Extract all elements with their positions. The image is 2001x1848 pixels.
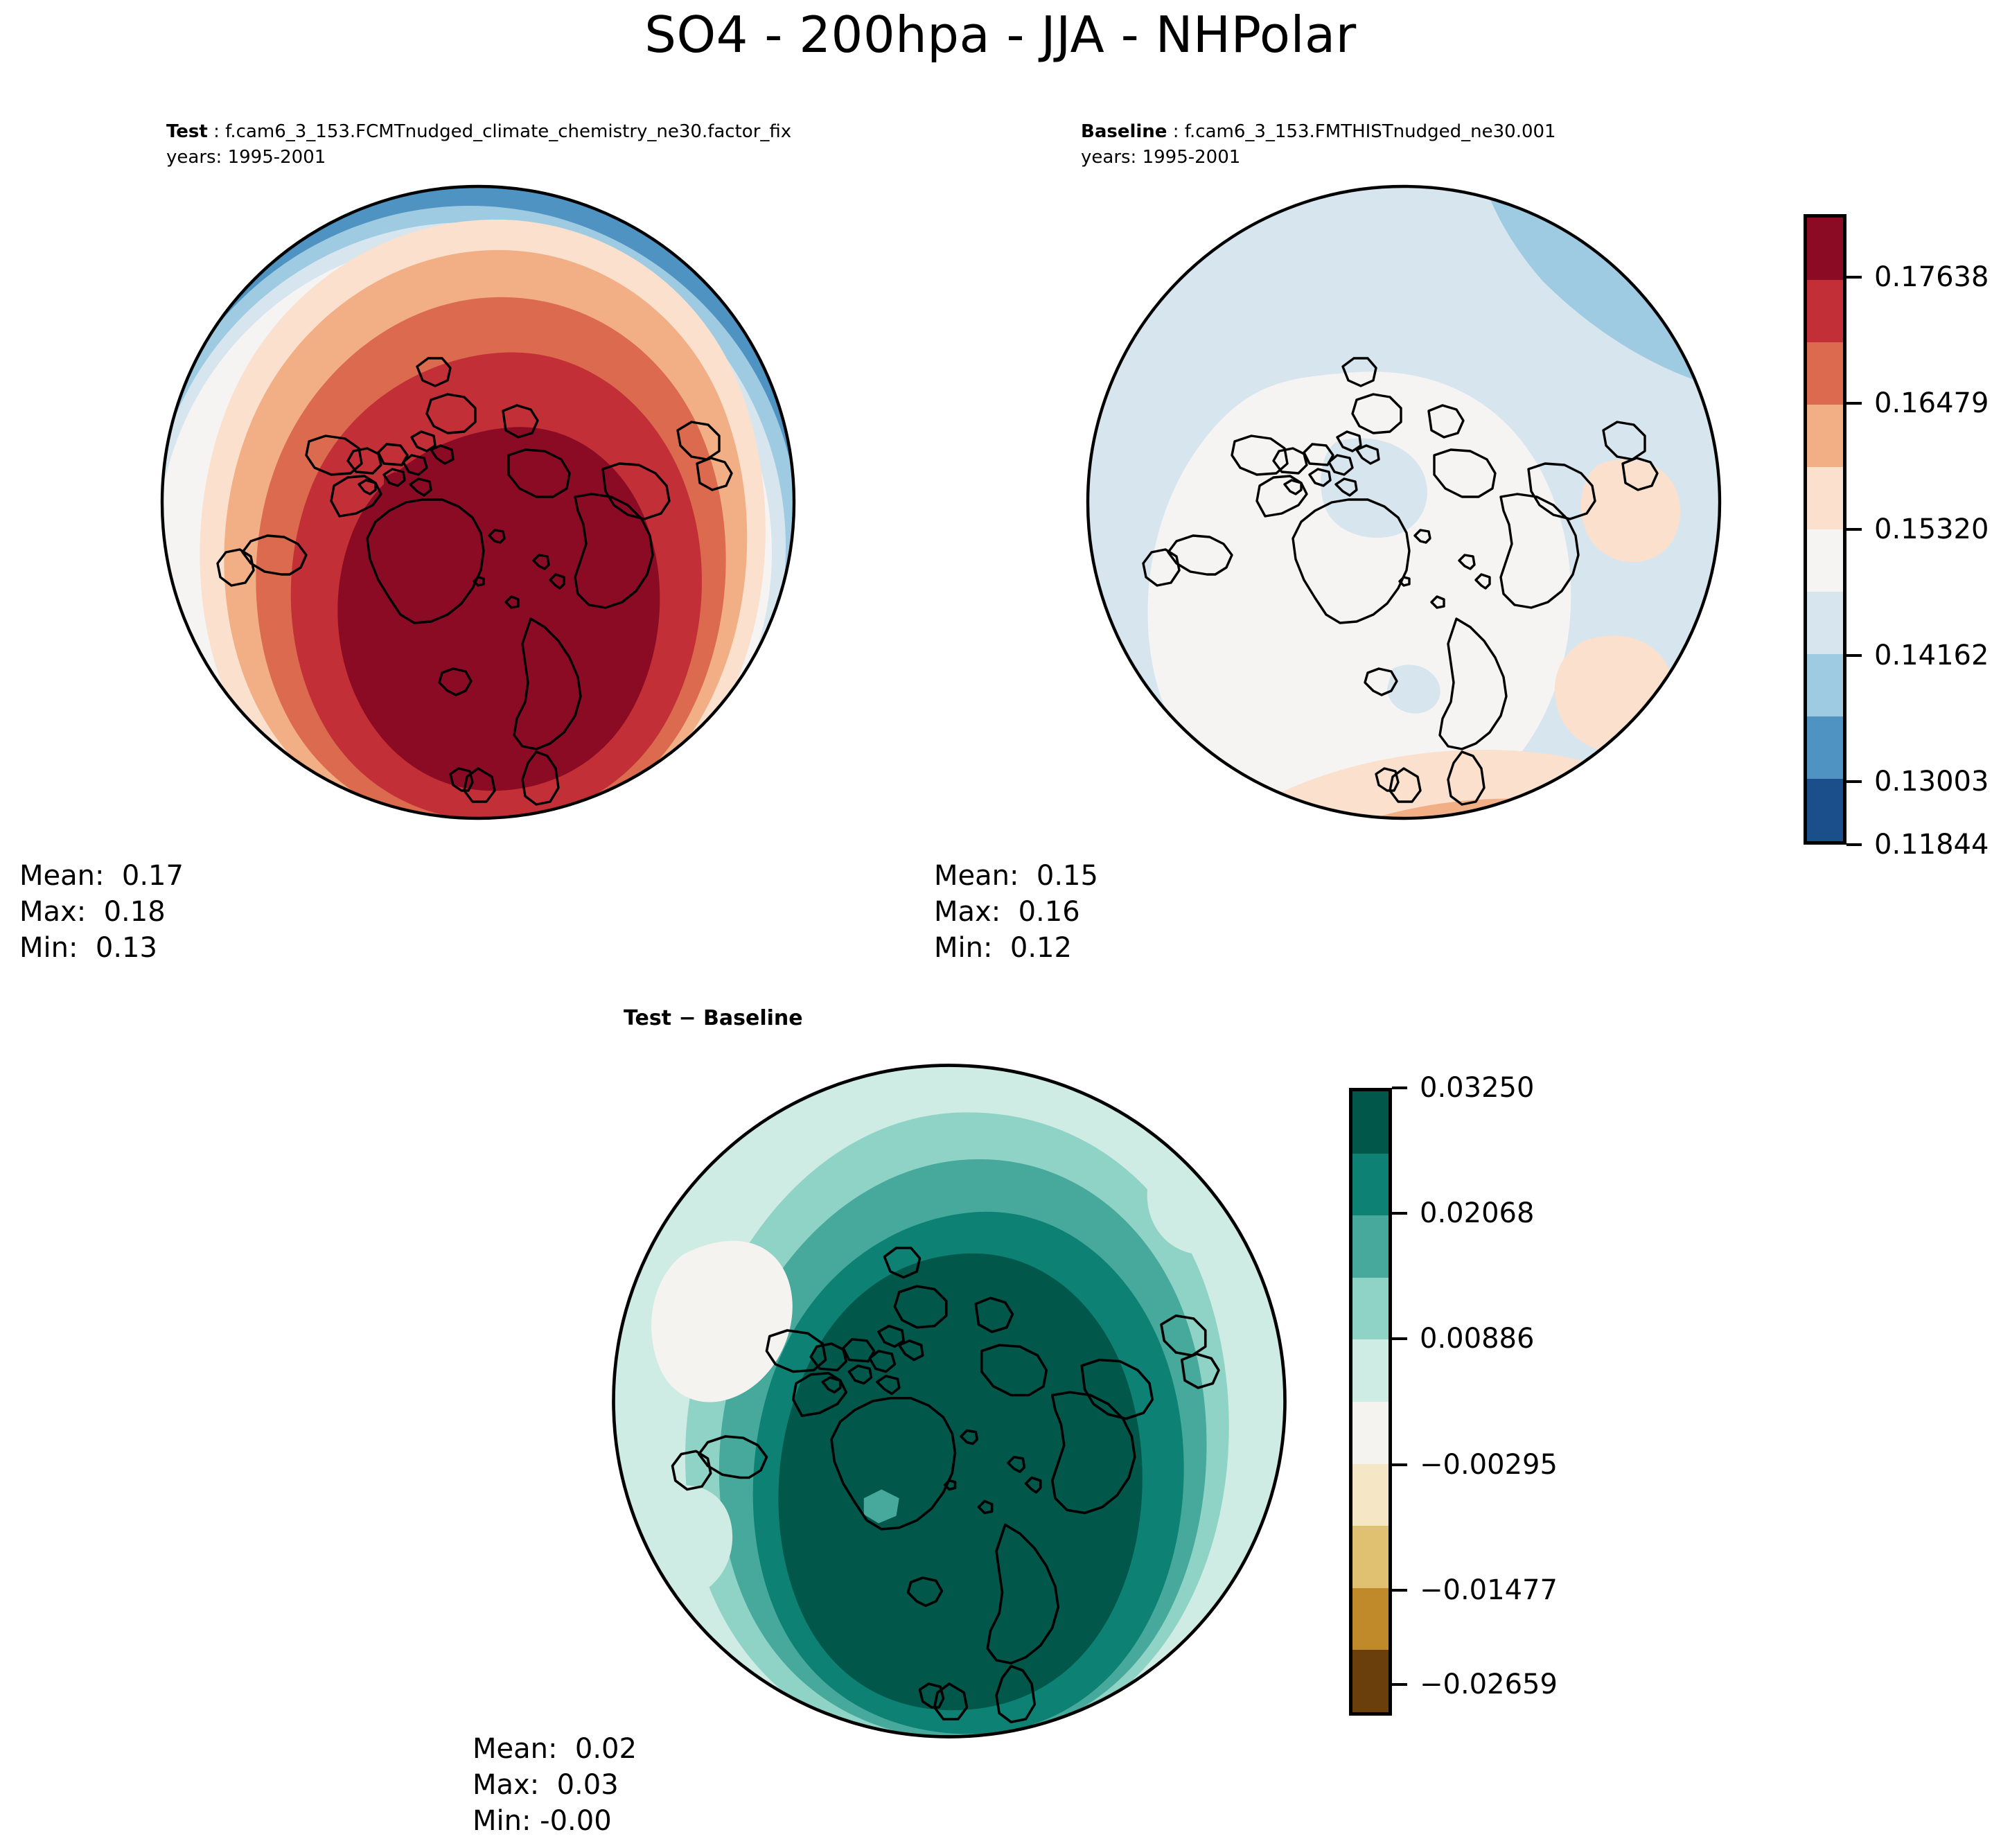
colorbar-band [1352, 1278, 1389, 1340]
test-map-panel [146, 170, 811, 835]
colorbar-band [1807, 218, 1843, 280]
colorbar-tick: 0.14162 [1846, 640, 1989, 671]
colorbar-tick-mark [1846, 654, 1862, 657]
colorbar-tick: 0.02068 [1392, 1197, 1534, 1229]
colorbar-tick-label: −0.02659 [1420, 1669, 1558, 1700]
colorbar-tick-mark [1846, 528, 1862, 531]
test-case-name: f.cam6_3_153.FCMTnudged_climate_chemistr… [225, 121, 791, 142]
colorbar-tick-label: 0.02068 [1420, 1197, 1534, 1229]
colorbar-band [1807, 592, 1843, 654]
colorbar-band [1352, 1091, 1389, 1154]
baseline-years: years: 1995-2001 [1081, 145, 1556, 170]
colorbar-tick-mark [1392, 1589, 1407, 1592]
difference-map-svg [596, 1048, 1303, 1754]
colorbar-band [1352, 1588, 1389, 1651]
colorbar-tick-label: −0.00295 [1420, 1449, 1558, 1481]
colorbar-tick: −0.02659 [1392, 1669, 1558, 1700]
baseline-map-panel [1071, 170, 1736, 835]
colorbar-tick-label: 0.17638 [1874, 261, 1989, 293]
baseline-contour-fill [1071, 170, 1736, 835]
colorbar-band [1352, 1464, 1389, 1526]
colorbar-band [1352, 1215, 1389, 1278]
colorbar-band [1807, 467, 1843, 529]
test-panel-caption: Test : f.cam6_3_153.FCMTnudged_climate_c… [166, 119, 791, 170]
page-title: SO4 - 200hpa - JJA - NHPolar [0, 6, 2001, 64]
test-map-svg [146, 170, 811, 835]
baseline-panel-caption: Baseline : f.cam6_3_153.FMTHISTnudged_ne… [1081, 119, 1556, 170]
colorbar-tick-label: −0.01477 [1420, 1574, 1558, 1606]
colorbar-band [1352, 1339, 1389, 1402]
colorbar-band [1807, 529, 1843, 592]
main-colorbar-ticks: 0.176380.164790.153200.141620.130030.118… [1846, 214, 2001, 845]
colorbar-tick-label: 0.16479 [1874, 387, 1989, 419]
colorbar-band [1807, 280, 1843, 342]
difference-colorbar[interactable]: 0.032500.020680.00886−0.00295−0.01477−0.… [1349, 1088, 1392, 1716]
colorbar-tick-label: 0.11844 [1874, 829, 1989, 861]
test-years: years: 1995-2001 [166, 145, 791, 170]
baseline-map-svg [1071, 170, 1736, 835]
main-colorbar[interactable]: 0.176380.164790.153200.141620.130030.118… [1804, 214, 1846, 845]
colorbar-band [1807, 405, 1843, 467]
difference-contour-fill [596, 1048, 1303, 1754]
difference-colorbar-gradient [1349, 1088, 1392, 1716]
colorbar-tick: 0.15320 [1846, 513, 1989, 545]
colorbar-tick-label: 0.00886 [1420, 1323, 1534, 1355]
colorbar-band [1807, 654, 1843, 716]
baseline-caption-separator: : [1167, 121, 1184, 142]
colorbar-tick-mark [1846, 780, 1862, 783]
test-contour-fill [146, 170, 811, 835]
colorbar-tick-mark [1392, 1683, 1407, 1686]
colorbar-tick-mark [1846, 843, 1862, 846]
colorbar-tick-mark [1392, 1212, 1407, 1215]
difference-stats: Mean: 0.02 Max: 0.03 Min: -0.00 [473, 1731, 637, 1839]
colorbar-tick-mark [1846, 276, 1862, 279]
colorbar-tick: −0.01477 [1392, 1574, 1558, 1606]
colorbar-band [1807, 779, 1843, 841]
colorbar-tick-mark [1846, 402, 1862, 405]
colorbar-tick-mark [1392, 1086, 1407, 1089]
colorbar-tick-label: 0.15320 [1874, 513, 1989, 545]
colorbar-tick: 0.00886 [1392, 1323, 1534, 1355]
colorbar-tick: 0.13003 [1846, 766, 1989, 798]
colorbar-tick: 0.11844 [1846, 829, 1989, 861]
colorbar-tick: 0.17638 [1846, 261, 1989, 293]
difference-map-panel [596, 1048, 1303, 1754]
colorbar-tick-label: 0.03250 [1420, 1072, 1534, 1104]
test-stats: Mean: 0.17 Max: 0.18 Min: 0.13 [19, 858, 184, 966]
colorbar-tick-mark [1392, 1463, 1407, 1466]
colorbar-tick: 0.16479 [1846, 387, 1989, 419]
colorbar-tick-mark [1392, 1337, 1407, 1340]
colorbar-tick: −0.00295 [1392, 1449, 1558, 1481]
test-caption-separator: : [208, 121, 225, 142]
colorbar-band [1352, 1650, 1389, 1712]
colorbar-band [1352, 1154, 1389, 1216]
test-role-label: Test [166, 121, 208, 142]
baseline-case-name: f.cam6_3_153.FMTHISTnudged_ne30.001 [1185, 121, 1556, 142]
colorbar-band [1807, 716, 1843, 779]
colorbar-band [1352, 1526, 1389, 1588]
colorbar-band [1352, 1402, 1389, 1464]
baseline-role-label: Baseline [1081, 121, 1167, 142]
colorbar-tick-label: 0.14162 [1874, 640, 1989, 671]
colorbar-tick: 0.03250 [1392, 1072, 1534, 1104]
main-colorbar-gradient [1804, 214, 1846, 845]
difference-colorbar-ticks: 0.032500.020680.00886−0.00295−0.01477−0.… [1392, 1088, 1614, 1716]
difference-panel-title: Test − Baseline [624, 1006, 803, 1030]
colorbar-band [1807, 342, 1843, 405]
colorbar-tick-label: 0.13003 [1874, 766, 1989, 798]
baseline-stats: Mean: 0.15 Max: 0.16 Min: 0.12 [934, 858, 1098, 966]
